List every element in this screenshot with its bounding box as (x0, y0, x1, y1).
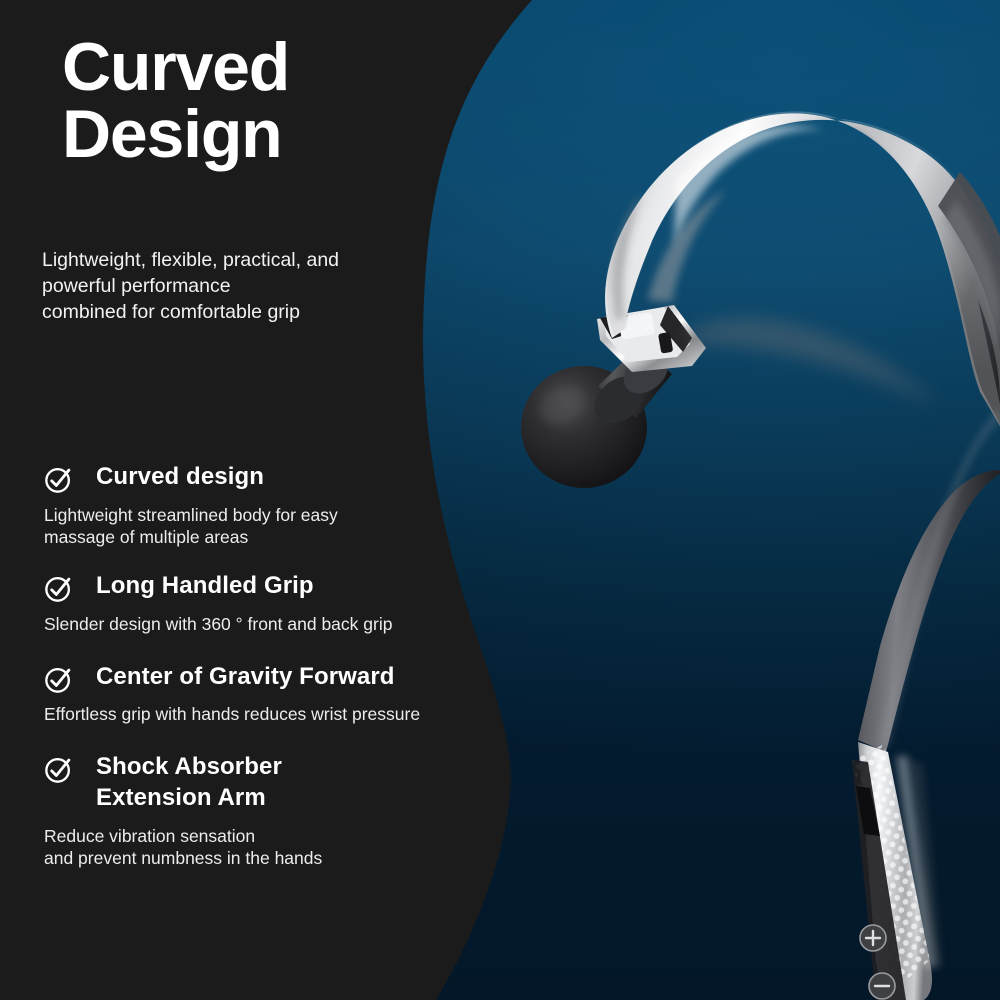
check-circle-icon (44, 574, 73, 603)
check-circle-icon (44, 465, 73, 494)
feature-title: Long Handled Grip (96, 571, 314, 602)
text-column: Curved Design Lightweight, flexible, pra… (0, 0, 470, 1000)
feature-description: Slender design with 360 ° front and back… (0, 613, 470, 636)
feature-description: Effortless grip with hands reduces wrist… (0, 703, 470, 726)
page-subtitle: Lightweight, flexible, practical, and po… (42, 248, 442, 326)
feature-title: Shock Absorber Extension Arm (96, 752, 282, 813)
feature-title: Center of Gravity Forward (96, 662, 395, 693)
feature-description: Lightweight streamlined body for easy ma… (0, 504, 470, 550)
feature-item-curved-design[interactable]: Curved design Lightweight streamlined bo… (0, 462, 470, 549)
check-circle-icon (44, 665, 73, 694)
feature-item-shock-absorber-extension-arm[interactable]: Shock Absorber Extension Arm Reduce vibr… (0, 752, 470, 870)
feature-title: Curved design (96, 462, 264, 493)
feature-item-long-handled-grip[interactable]: Long Handled Grip Slender design with 36… (0, 571, 470, 635)
feature-item-center-of-gravity-forward[interactable]: Center of Gravity Forward Effortless gri… (0, 662, 470, 726)
check-circle-icon (44, 755, 73, 784)
feature-list: Curved design Lightweight streamlined bo… (0, 462, 470, 887)
page-title: Curved Design (62, 34, 462, 167)
feature-description: Reduce vibration sensation and prevent n… (0, 825, 470, 871)
product-feature-banner: Curved Design Lightweight, flexible, pra… (0, 0, 1000, 1000)
